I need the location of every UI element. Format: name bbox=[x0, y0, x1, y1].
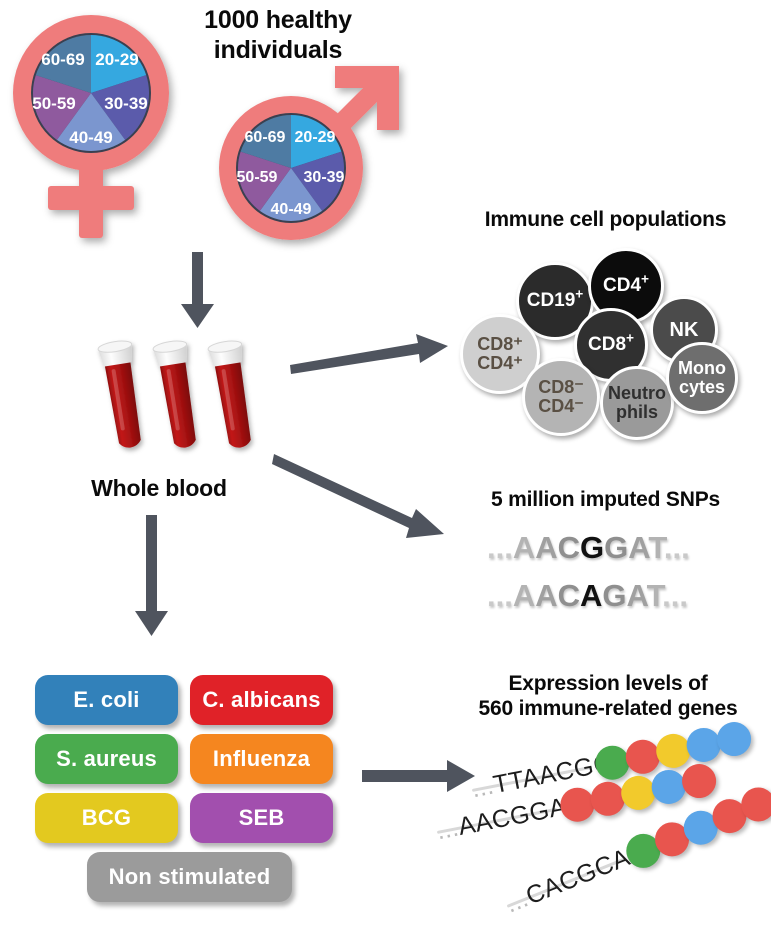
figure-canvas: 1000 healthy individuals bbox=[0, 0, 771, 922]
age-label-60-69: 60-69 bbox=[41, 50, 84, 69]
stimulus-calbicans[interactable]: C. albicans bbox=[190, 675, 333, 725]
immune-cell-monocytes[interactable]: Monocytes bbox=[666, 342, 738, 414]
stimulus-influenza[interactable]: Influenza bbox=[190, 734, 333, 784]
immune-cell-label: CD8+ bbox=[588, 335, 634, 355]
stimulus-label: SEB bbox=[239, 805, 285, 831]
immune-cell-cd8cd4neg[interactable]: CD8⁻CD4⁻ bbox=[522, 358, 600, 436]
age-label-20-29: 20-29 bbox=[295, 129, 336, 146]
arrow-down-cohort-to-blood bbox=[178, 252, 218, 332]
snp-sequence-line-1: ...AACGGAT... bbox=[487, 530, 737, 566]
snp-allele-2: A bbox=[580, 578, 602, 613]
stimuli-panel: E. coliC. albicansS. aureusInfluenzaBCGS… bbox=[35, 675, 340, 900]
gene-strands: ...TTAACGG...AACGGAT...CACGCAA bbox=[462, 740, 767, 910]
immune-cell-label: CD19+ bbox=[527, 291, 584, 311]
female-gender-symbol: 20-29 30-39 40-49 50-59 60-69 bbox=[6, 8, 196, 243]
immune-cell-cluster: CD19+CD4+NKCD8⁺CD4⁺CD8+CD8⁻CD4⁻Neutrophi… bbox=[460, 248, 760, 408]
blood-tube-2 bbox=[152, 339, 202, 450]
age-label-50-59: 50-59 bbox=[237, 169, 278, 186]
cohort-heading-line1: 1000 healthy bbox=[178, 6, 378, 36]
immune-cell-label: CD4+ bbox=[603, 276, 649, 296]
arrow-stimuli-to-expression bbox=[362, 760, 477, 796]
blood-tube-1 bbox=[97, 339, 147, 450]
stimulus-label: C. albicans bbox=[202, 687, 320, 713]
gene-bead bbox=[679, 761, 719, 801]
immune-cell-neutrophils[interactable]: Neutrophils bbox=[600, 366, 674, 440]
age-label-30-39: 30-39 bbox=[304, 169, 345, 186]
age-label-50-59: 50-59 bbox=[32, 94, 75, 113]
stimulus-label: Influenza bbox=[213, 746, 310, 772]
stimulus-bcg[interactable]: BCG bbox=[35, 793, 178, 843]
expression-heading-line2: 560 immune-related genes bbox=[450, 697, 766, 722]
stimulus-nonstimulated[interactable]: Non stimulated bbox=[87, 852, 292, 902]
whole-blood-label: Whole blood bbox=[74, 475, 244, 502]
immune-cell-label: CD8⁺CD4⁺ bbox=[477, 335, 523, 372]
age-label-40-49: 40-49 bbox=[69, 128, 112, 147]
arrow-down-blood-to-stimuli bbox=[132, 515, 172, 640]
blood-tube-3 bbox=[207, 339, 257, 450]
age-label-30-39: 30-39 bbox=[104, 94, 147, 113]
stimulus-ecoli[interactable]: E. coli bbox=[35, 675, 178, 725]
blood-tubes bbox=[88, 338, 288, 473]
snps-heading: 5 million imputed SNPs bbox=[450, 488, 761, 513]
stimulus-label: BCG bbox=[82, 805, 132, 831]
stimulus-saureus[interactable]: S. aureus bbox=[35, 734, 178, 784]
immune-cell-label: NK bbox=[670, 320, 699, 341]
immune-cell-label: Neutrophils bbox=[608, 384, 666, 421]
arrow-blood-to-snps bbox=[272, 452, 447, 547]
snp-sequence-line-2: ...AACAGAT... bbox=[487, 578, 737, 614]
age-label-40-49: 40-49 bbox=[271, 201, 312, 218]
stimulus-label: Non stimulated bbox=[109, 864, 271, 890]
male-gender-symbol: 20-29 30-39 40-49 50-59 60-69 bbox=[203, 50, 408, 250]
immune-heading: Immune cell populations bbox=[450, 208, 761, 233]
expression-heading: Expression levels of 560 immune-related … bbox=[450, 672, 766, 722]
expression-heading-line1: Expression levels of bbox=[450, 672, 766, 697]
arrow-blood-to-immune bbox=[290, 330, 450, 380]
gene-bead bbox=[714, 719, 754, 759]
stimulus-label: E. coli bbox=[73, 687, 139, 713]
snp-sequences: ...AACGGAT... ...AACAGAT... bbox=[487, 530, 737, 614]
snp-allele-1: G bbox=[580, 530, 604, 565]
immune-cell-label: CD8⁻CD4⁻ bbox=[538, 378, 584, 415]
immune-cell-label: Monocytes bbox=[678, 359, 726, 396]
stimulus-label: S. aureus bbox=[56, 746, 157, 772]
stimulus-seb[interactable]: SEB bbox=[190, 793, 333, 843]
age-label-20-29: 20-29 bbox=[95, 50, 138, 69]
age-label-60-69: 60-69 bbox=[245, 129, 286, 146]
